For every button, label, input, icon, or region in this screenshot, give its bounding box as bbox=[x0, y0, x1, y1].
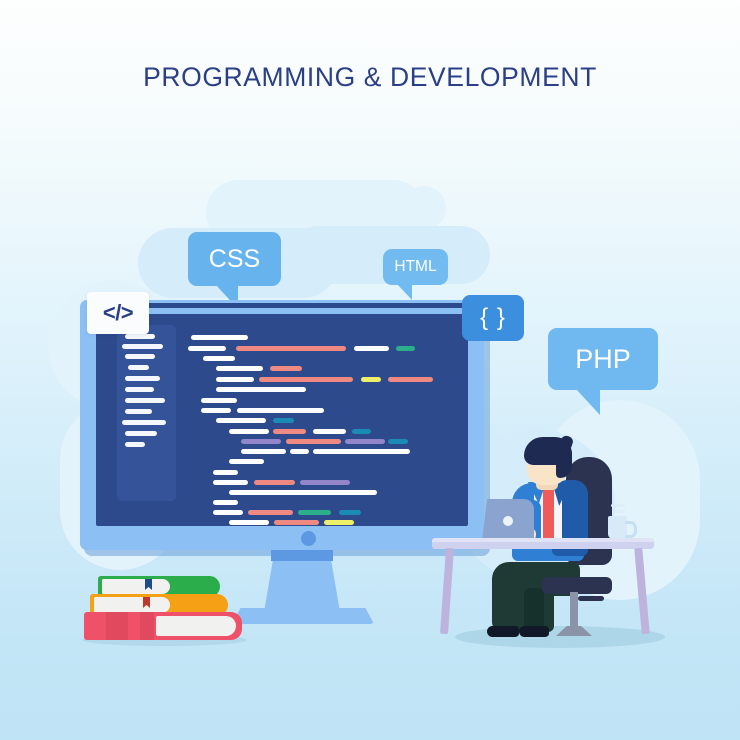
editor-code-line bbox=[361, 377, 381, 382]
editor-code-line bbox=[298, 510, 331, 515]
editor-code-line bbox=[286, 439, 341, 444]
editor-code-line bbox=[213, 480, 248, 485]
monitor-chin bbox=[80, 526, 484, 550]
book-red-fold-1 bbox=[106, 612, 128, 640]
editor-sidebar-line bbox=[125, 354, 155, 359]
monitor-power-button[interactable] bbox=[301, 531, 316, 546]
editor-sidebar-line bbox=[125, 334, 155, 339]
book-red-pages bbox=[156, 616, 236, 636]
mug-steam-1 bbox=[611, 504, 625, 507]
badge-braces-label: { } bbox=[480, 304, 506, 332]
chair-lever bbox=[578, 596, 604, 601]
editor-code-line bbox=[229, 490, 253, 495]
book-red-fold-2 bbox=[140, 612, 154, 640]
badge-html-label: HTML bbox=[394, 258, 436, 276]
book-green-pages bbox=[102, 579, 170, 594]
editor-code-line bbox=[248, 510, 293, 515]
editor-code-line bbox=[270, 366, 302, 371]
editor-sidebar-line bbox=[125, 431, 157, 436]
editor-code-line bbox=[354, 346, 389, 351]
editor-code-line bbox=[216, 377, 254, 382]
person-shoe-front bbox=[487, 626, 519, 637]
editor-code-line bbox=[237, 490, 377, 495]
editor-code-line bbox=[201, 398, 237, 403]
editor-sidebar-line bbox=[122, 420, 166, 425]
editor-code-line bbox=[241, 449, 286, 454]
editor-code-line bbox=[254, 480, 295, 485]
editor-code-line bbox=[236, 346, 346, 351]
editor-code-line bbox=[300, 480, 350, 485]
editor-code-line bbox=[216, 366, 263, 371]
book-orange-pages bbox=[94, 597, 170, 613]
badge-code-tag-label: </> bbox=[103, 300, 133, 326]
editor-code-line bbox=[313, 429, 346, 434]
badge-braces[interactable]: { } bbox=[462, 295, 524, 341]
badge-css[interactable]: CSS bbox=[188, 232, 281, 286]
editor-code-line bbox=[313, 449, 410, 454]
editor-code-line bbox=[229, 429, 269, 434]
bg-blob-2 bbox=[402, 186, 446, 230]
editor-code-line bbox=[352, 429, 371, 434]
desk-surface-highlight bbox=[432, 538, 654, 542]
editor-code-line bbox=[339, 510, 361, 515]
mug-handle bbox=[625, 521, 637, 538]
book-red bbox=[84, 612, 242, 640]
editor-sidebar-line bbox=[125, 376, 160, 381]
editor-code-line bbox=[388, 439, 408, 444]
editor-code-line bbox=[191, 335, 248, 340]
editor-code-line bbox=[216, 418, 266, 423]
editor-sidebar-line bbox=[125, 409, 152, 414]
editor-code-line bbox=[388, 377, 433, 382]
illustration-canvas: PROGRAMMING & DEVELOPMENT CSS HTML PHP {… bbox=[0, 0, 740, 740]
code-editor-screen[interactable] bbox=[96, 314, 468, 526]
editor-code-line bbox=[229, 520, 269, 525]
editor-sidebar-line bbox=[125, 398, 165, 403]
editor-code-line bbox=[290, 449, 309, 454]
monitor-stand-band bbox=[271, 550, 333, 561]
badge-php-label: PHP bbox=[575, 344, 631, 375]
editor-code-line bbox=[203, 356, 235, 361]
editor-code-line bbox=[201, 408, 231, 413]
editor-code-line bbox=[188, 346, 226, 351]
editor-code-line bbox=[345, 439, 385, 444]
editor-sidebar-line bbox=[125, 442, 145, 447]
editor-code-line bbox=[273, 429, 306, 434]
editor-code-line bbox=[213, 510, 243, 515]
editor-sidebar-line bbox=[128, 365, 149, 370]
editor-code-line bbox=[213, 470, 238, 475]
editor-code-line bbox=[213, 500, 238, 505]
page-title: PROGRAMMING & DEVELOPMENT bbox=[0, 62, 740, 93]
editor-code-line bbox=[273, 418, 294, 423]
mug-steam-2 bbox=[615, 510, 625, 513]
desk-leg-left bbox=[440, 548, 454, 634]
laptop-logo bbox=[503, 516, 513, 526]
person-hair-side bbox=[556, 444, 572, 478]
badge-php-tail bbox=[576, 389, 600, 415]
editor-code-line bbox=[216, 387, 306, 392]
editor-code-line bbox=[237, 408, 324, 413]
editor-code-line bbox=[259, 377, 353, 382]
editor-code-line bbox=[324, 520, 354, 525]
editor-code-line bbox=[241, 439, 281, 444]
badge-code-tag[interactable]: </> bbox=[87, 292, 149, 334]
person-tie bbox=[543, 488, 554, 544]
editor-code-line bbox=[274, 520, 319, 525]
badge-html-tail bbox=[397, 284, 412, 300]
editor-sidebar-line bbox=[122, 344, 163, 349]
badge-css-label: CSS bbox=[209, 245, 260, 274]
editor-sidebar-line bbox=[125, 387, 154, 392]
editor-code-line bbox=[396, 346, 415, 351]
badge-html[interactable]: HTML bbox=[383, 249, 448, 285]
person-shoe-back bbox=[519, 626, 549, 637]
monitor-stand-base bbox=[232, 608, 374, 624]
badge-php[interactable]: PHP bbox=[548, 328, 658, 390]
editor-code-line bbox=[229, 459, 264, 464]
